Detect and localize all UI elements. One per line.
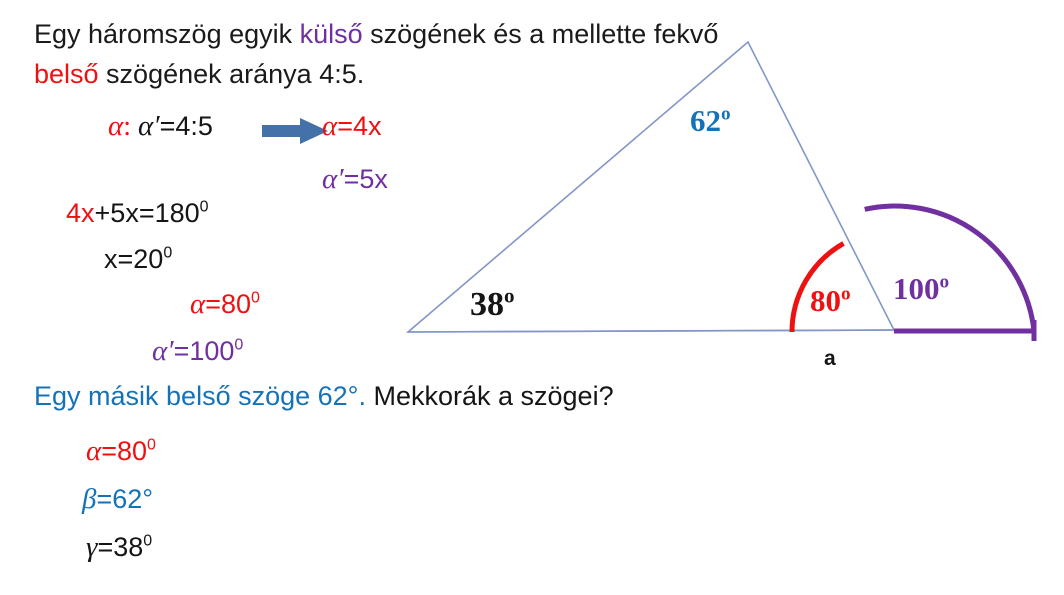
alpha-prime-symbol: α′ <box>322 163 344 195</box>
ratio-alpha-prime: α′ <box>138 110 160 142</box>
angle-label-80: 80o <box>810 285 851 316</box>
question-black-part: Mekkorák a szögei? <box>366 381 614 411</box>
ratio-alpha: α <box>108 110 123 142</box>
ratio-colon: : <box>123 111 131 142</box>
alpha-result: α=800 <box>190 290 260 319</box>
angle-100-degree: o <box>940 272 950 293</box>
question-blue-part: Egy másik belső szöge 62°. <box>34 381 366 411</box>
answer-gamma: γ=380 <box>86 533 152 562</box>
exterior-angle-arc <box>865 206 1034 331</box>
ratio-line: α: α′=4:5 <box>108 112 213 141</box>
answer-beta-value: =62° <box>96 484 153 514</box>
problem-text-a: Egy háromszög egyik <box>34 19 300 49</box>
alpha-result-value: =80 <box>205 289 251 319</box>
sum-red-term: 4x <box>66 198 95 228</box>
angle-62-degree: o <box>721 104 731 125</box>
problem-text-b: szögének és a mellette fekvő <box>363 19 719 49</box>
alpha-result-symbol: α <box>190 288 205 320</box>
angle-80-value: 80 <box>810 283 841 318</box>
answer-alpha-degree: 0 <box>147 437 156 454</box>
alpha-prime-result: α′=1000 <box>152 337 243 366</box>
slide-canvas: Egy háromszög egyik külső szögének és a … <box>0 0 1064 595</box>
angle-38-value: 38 <box>470 286 504 323</box>
angle-62-value: 62 <box>690 103 721 138</box>
alpha-prime-value: =5x <box>344 164 388 194</box>
alpha-prime-result-value: =100 <box>174 336 235 366</box>
sum-degree: 0 <box>200 199 209 216</box>
angle-38-degree: o <box>504 284 515 308</box>
x-value: x=20 <box>104 244 163 274</box>
angle-label-62: 62o <box>690 105 731 136</box>
problem-text-c: szögének aránya 4:5. <box>99 59 365 89</box>
alpha-equals-4x: α=4x <box>322 112 382 141</box>
problem-line-2: belső szögének aránya 4:5. <box>34 56 364 92</box>
answer-alpha-symbol: α <box>86 435 101 467</box>
answer-beta: β=62° <box>82 485 153 514</box>
base-line <box>408 330 894 332</box>
problem-line-1: Egy háromszög egyik külső szögének és a … <box>34 16 718 52</box>
sum-equation: 4x+5x=1800 <box>66 200 209 228</box>
answer-gamma-symbol: γ <box>86 531 97 563</box>
alpha-prime-equals-5x: α′=5x <box>322 165 388 194</box>
problem-kulso-word: külső <box>300 19 363 49</box>
right-arrow-icon <box>262 118 328 144</box>
angle-100-value: 100 <box>893 271 940 306</box>
answer-gamma-degree: 0 <box>143 533 152 550</box>
angle-80-degree: o <box>841 284 851 305</box>
ratio-value: =4:5 <box>160 111 213 141</box>
angle-label-38: 38o <box>470 288 515 322</box>
implies-arrow <box>262 118 328 144</box>
alpha-value: =4x <box>337 111 381 141</box>
x-equation: x=200 <box>104 246 172 274</box>
angle-label-100: 100o <box>893 273 949 304</box>
answer-beta-symbol: β <box>82 483 96 515</box>
sum-rest: +5x=180 <box>95 198 200 228</box>
alpha-prime-result-degree: 0 <box>234 337 243 354</box>
alpha-symbol: α <box>322 110 337 142</box>
question-line: Egy másik belső szöge 62°. Mekkorák a sz… <box>34 378 614 414</box>
x-degree: 0 <box>163 245 172 262</box>
answer-gamma-value: =38 <box>97 532 143 562</box>
answer-alpha: α=800 <box>86 437 156 466</box>
answer-alpha-value: =80 <box>101 436 147 466</box>
alpha-prime-result-symbol: α′ <box>152 335 174 367</box>
alpha-result-degree: 0 <box>251 290 260 307</box>
problem-belso-word: belső <box>34 59 99 89</box>
side-label-a: a <box>824 348 836 369</box>
